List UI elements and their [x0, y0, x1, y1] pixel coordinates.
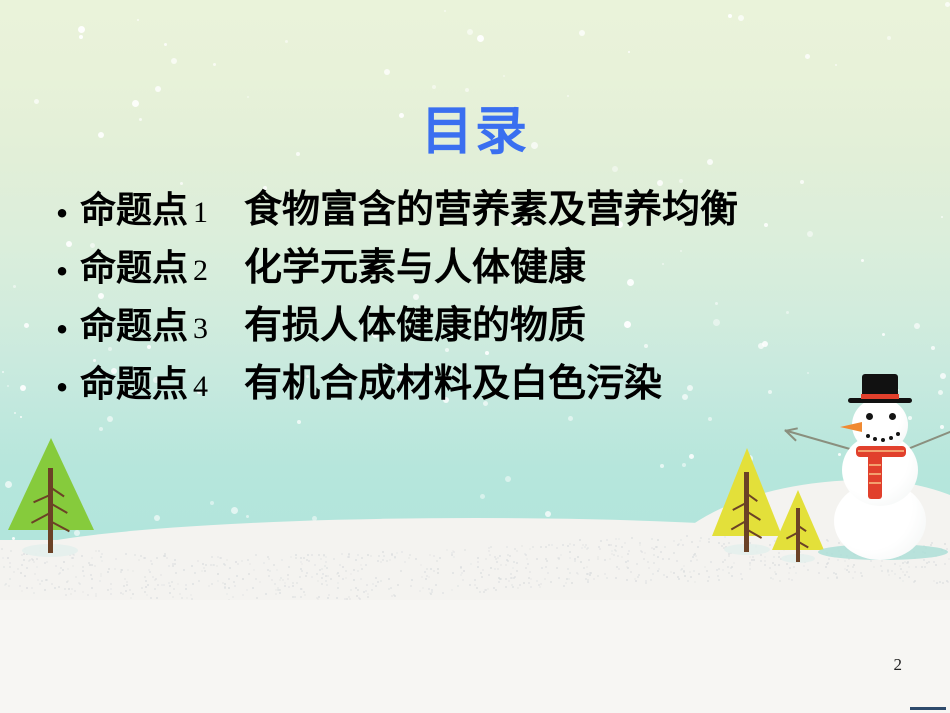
toc-point-label: 命题点: [80, 181, 188, 233]
corner-rule-decoration: [910, 707, 946, 710]
toc-point-label: 命题点: [80, 297, 188, 349]
bullet-icon: •: [44, 260, 80, 284]
bullet-icon: •: [44, 202, 80, 226]
list-item[interactable]: • 命题点 3 有损人体健康的物质: [44, 294, 924, 352]
list-item[interactable]: • 命题点 4 有机合成材料及白色污染: [44, 352, 924, 410]
list-item[interactable]: • 命题点 2 化学元素与人体健康: [44, 236, 924, 294]
toc-entry-title: 有机合成材料及白色污染: [208, 352, 662, 407]
toc-point-label: 命题点: [80, 239, 188, 291]
bullet-icon: •: [44, 318, 80, 342]
toc-point-number: 2: [188, 254, 208, 288]
toc-point-number: 4: [188, 370, 208, 404]
toc-point-number: 1: [188, 196, 208, 230]
bullet-icon: •: [44, 376, 80, 400]
toc-entry-title: 食物富含的营养素及营养均衡: [208, 178, 738, 233]
slide-content: 目录 • 命题点 1 食物富含的营养素及营养均衡 • 命题点 2 化学元素与人体…: [0, 0, 950, 600]
toc-entry-title: 化学元素与人体健康: [208, 236, 586, 291]
toc-point-label: 命题点: [80, 355, 188, 407]
page-number: 2: [894, 655, 903, 675]
toc-point-number: 3: [188, 312, 208, 346]
page-title: 目录: [0, 106, 950, 158]
toc-entry-title: 有损人体健康的物质: [208, 294, 586, 349]
table-of-contents-list: • 命题点 1 食物富含的营养素及营养均衡 • 命题点 2 化学元素与人体健康 …: [44, 178, 924, 410]
list-item[interactable]: • 命题点 1 食物富含的营养素及营养均衡: [44, 178, 924, 236]
slide-page: 目录 • 命题点 1 食物富含的营养素及营养均衡 • 命题点 2 化学元素与人体…: [0, 0, 950, 713]
